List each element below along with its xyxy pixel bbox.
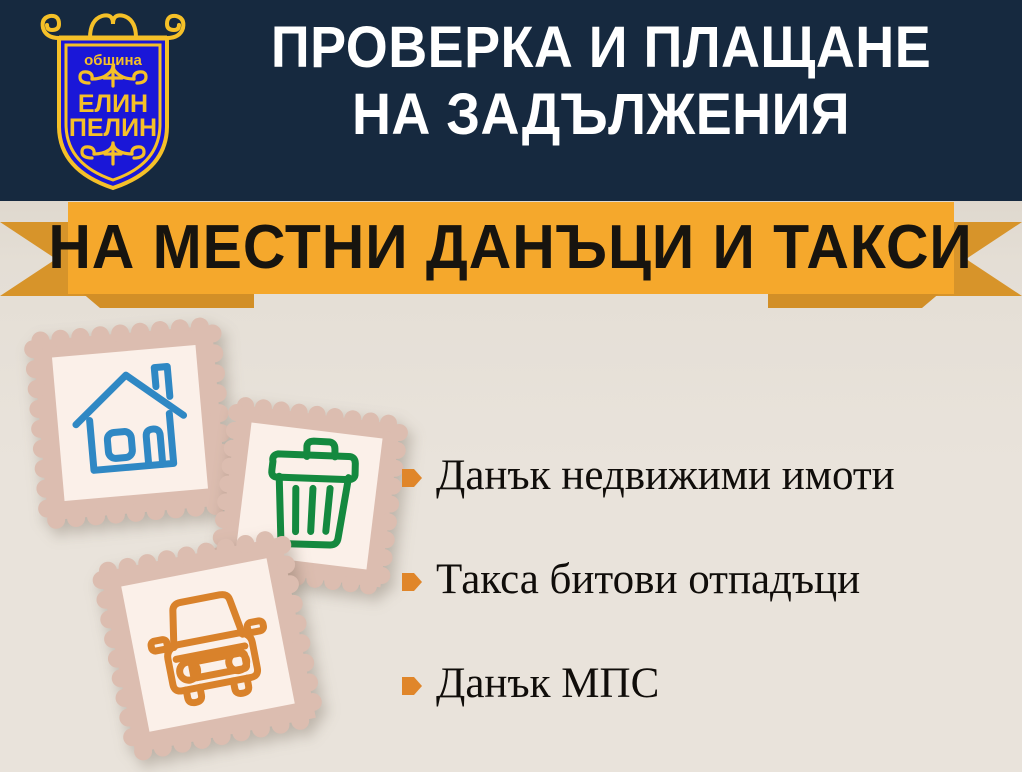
stamp-group: [0, 295, 400, 772]
arrow-bullet-icon: [402, 674, 422, 698]
poster-canvas: община ЕЛИН ПЕЛИН: [0, 0, 1022, 772]
arrow-bullet-icon: [402, 570, 422, 594]
ribbon-label: НА МЕСТНИ ДАНЪЦИ И ТАКСИ: [49, 217, 973, 279]
list-item[interactable]: Данък недвижими имоти: [402, 424, 1012, 528]
ribbon-banner: НА МЕСТНИ ДАНЪЦИ И ТАКСИ: [0, 200, 1022, 310]
list-item[interactable]: Данък МПС: [402, 632, 1012, 736]
list-item-label: Данък недвижими имоти: [436, 452, 895, 499]
crest-word-line2: ПЕЛИН: [69, 114, 157, 142]
tax-type-list: Данък недвижими имоти Такса битови отпад…: [402, 424, 1012, 736]
arrow-bullet-icon: [402, 466, 422, 490]
page-title: ПРОВЕРКА И ПЛАЩАНЕ НА ЗАДЪЛЖЕНИЯ: [224, 14, 977, 149]
page-title-line-1: ПРОВЕРКА И ПЛАЩАНЕ: [224, 14, 977, 81]
stamp-card-car: [88, 525, 328, 765]
list-item-label: Данък МПС: [436, 660, 659, 707]
municipality-crest-logo: община ЕЛИН ПЕЛИН: [32, 8, 194, 194]
list-item[interactable]: Такса битови отпадъци: [402, 528, 1012, 632]
list-item-label: Такса битови отпадъци: [436, 556, 860, 603]
stamp-paper: [121, 558, 295, 732]
page-title-line-2: НА ЗАДЪЛЖЕНИЯ: [224, 81, 977, 148]
ribbon-body: НА МЕСТНИ ДАНЪЦИ И ТАКСИ: [68, 202, 954, 294]
